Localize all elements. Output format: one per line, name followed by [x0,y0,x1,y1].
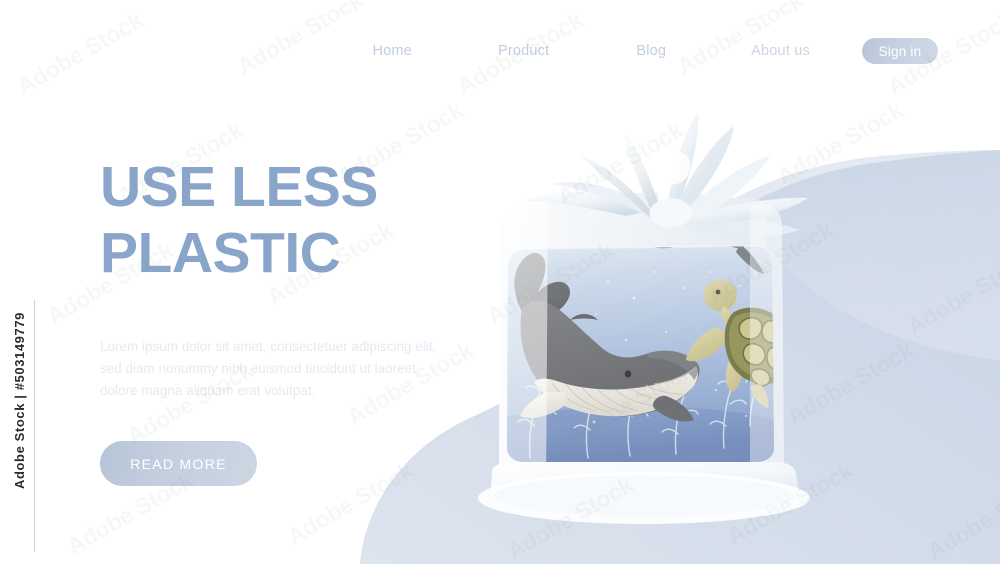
nav-item-blog[interactable]: Blog [636,43,666,59]
nav-item-product[interactable]: Product [498,43,549,59]
page-title: USE LESS PLASTIC [100,160,520,280]
plastic-bag-illustration [478,96,948,526]
read-more-button[interactable]: READ MORE [100,441,257,486]
bag-base [478,462,810,524]
hero-section: USE LESS PLASTIC Lorem ipsum dolor sit a… [100,160,520,401]
page-canvas: Home Product Blog About us Sign in USE L… [0,0,1000,564]
nav-item-about-us[interactable]: About us [751,43,810,59]
hero-paragraph: Lorem ipsum dolor sit amet, consectetuer… [100,336,450,401]
headline-line-2: PLASTIC [100,226,520,280]
watermark-code: Adobe Stock | #503149779 [12,312,27,489]
sign-in-button[interactable]: Sign in [862,38,938,64]
main-navigation: Home Product Blog About us Sign in [0,0,1000,100]
watermark-divider [34,300,35,552]
nav-item-home[interactable]: Home [372,43,411,59]
headline-line-1: USE LESS [100,155,378,219]
